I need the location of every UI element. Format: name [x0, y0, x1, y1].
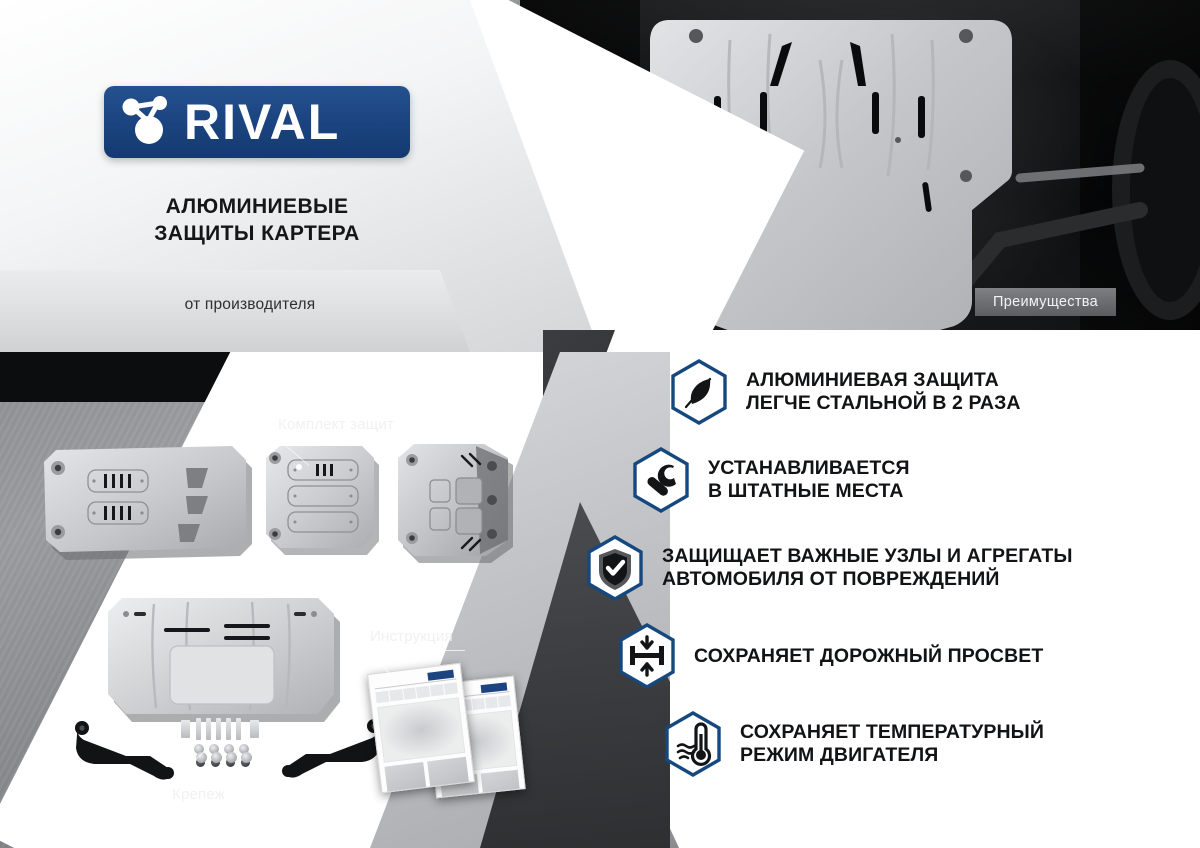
- washer: [226, 752, 237, 763]
- bolt: [196, 718, 201, 740]
- benefits-list: АЛЮМИНИЕВАЯ ЗАЩИТА ЛЕГЧЕ СТАЛЬНОЙ В 2 РА…: [612, 358, 1192, 798]
- benefit-text: СОХРАНЯЕТ ДОРОЖНЫЙ ПРОСВЕТ: [694, 645, 1043, 668]
- washer: [241, 752, 252, 763]
- benefit-text: АЛЮМИНИЕВАЯ ЗАЩИТА ЛЕГЧЕ СТАЛЬНОЙ В 2 РА…: [746, 369, 1021, 415]
- title-line-1: АЛЮМИНИЕВЫЕ: [104, 194, 410, 221]
- benefit-text: УСТАНАВЛИВАЕТСЯ В ШТАТНЫЕ МЕСТА: [708, 457, 910, 503]
- benefit-item: СОХРАНЯЕТ ТЕМПЕРАТУРНЫЙ РЕЖИМ ДВИГАТЕЛЯ: [662, 710, 1192, 778]
- skid-plate-large: [92, 590, 352, 730]
- promo-banner: RIVAL АЛЮМИНИЕВЫЕ ЗАЩИТЫ КАРТЕРА от прои…: [0, 0, 1200, 848]
- callout-instruction-label: Инструкция: [370, 628, 453, 645]
- thermometer-icon: [662, 710, 724, 778]
- callout-instruction-underline: [369, 650, 465, 651]
- bolt: [216, 718, 221, 740]
- subtitle: от производителя: [185, 296, 316, 313]
- instruction-sheet-front: [367, 663, 475, 794]
- skid-plate-2: [258, 442, 394, 564]
- tab-advantages[interactable]: Преимущества: [975, 288, 1116, 316]
- callout-kit-label: Комплект защит: [278, 416, 394, 433]
- bolt: [236, 718, 241, 740]
- wrench-icon: [630, 446, 692, 514]
- benefit-item: СОХРАНЯЕТ ДОРОЖНЫЙ ПРОСВЕТ: [616, 622, 1192, 690]
- spacer-plate: [250, 720, 259, 738]
- callout-kit-underline: [277, 438, 409, 439]
- bolt: [206, 718, 211, 740]
- spacer-plate: [181, 720, 190, 738]
- benefit-item: АЛЮМИНИЕВАЯ ЗАЩИТА ЛЕГЧЕ СТАЛЬНОЙ В 2 РА…: [668, 358, 1192, 426]
- shield-check-icon: [584, 534, 646, 602]
- mounting-bracket-left: [72, 712, 192, 784]
- molecule-icon: [118, 94, 180, 150]
- mounting-bracket-right: [262, 710, 384, 784]
- benefit-text: ЗАЩИЩАЕТ ВАЖНЫЕ УЗЛЫ И АГРЕГАТЫ АВТОМОБИ…: [662, 545, 1073, 591]
- skid-plate-3: [388, 440, 520, 568]
- leaf-icon: [668, 358, 730, 426]
- callout-kit-dot: [296, 464, 302, 470]
- benefit-item: ЗАЩИЩАЕТ ВАЖНЫЕ УЗЛЫ И АГРЕГАТЫ АВТОМОБИ…: [584, 534, 1192, 602]
- logo-wordmark: RIVAL: [184, 97, 340, 147]
- callout-hardware-overline: [170, 782, 244, 783]
- tab-advantages-label: Преимущества: [993, 294, 1098, 310]
- washer: [211, 752, 222, 763]
- benefit-item: УСТАНАВЛИВАЕТСЯ В ШТАТНЫЕ МЕСТА: [630, 446, 1192, 514]
- rival-logo: RIVAL: [104, 86, 410, 158]
- callout-hardware-label: Крепеж: [172, 786, 225, 803]
- title-line-2: ЗАЩИТЫ КАРТЕРА: [104, 221, 410, 248]
- bolt: [226, 718, 231, 740]
- benefit-text: СОХРАНЯЕТ ТЕМПЕРАТУРНЫЙ РЕЖИМ ДВИГАТЕЛЯ: [740, 721, 1044, 767]
- clearance-icon: [616, 622, 678, 690]
- skid-plate-1: [36, 440, 286, 570]
- page-title: АЛЮМИНИЕВЫЕ ЗАЩИТЫ КАРТЕРА: [104, 194, 410, 248]
